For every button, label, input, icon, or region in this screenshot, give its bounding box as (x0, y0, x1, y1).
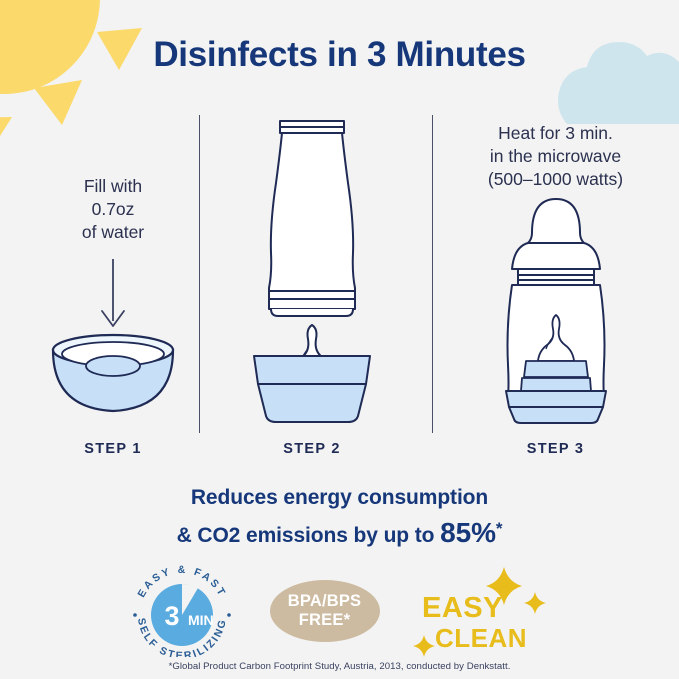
page-title: Disinfects in 3 Minutes (0, 35, 679, 75)
energy-claim-prefix: & CO2 emissions by up to (177, 524, 441, 547)
step-3-caption-line-2: in the microwave (432, 145, 679, 168)
footnote: *Global Product Carbon Footprint Study, … (0, 661, 679, 672)
step-1-caption-line-3: of water (0, 221, 226, 244)
badge-easy-line-1: EASY (422, 592, 503, 624)
step-1: Fill with 0.7oz of water (0, 112, 226, 457)
energy-claim-asterisk: * (496, 519, 503, 538)
step-1-caption: Fill with 0.7oz of water (0, 112, 226, 244)
badge-bpa-line-2: FREE* (299, 611, 350, 630)
badge-easy-clean: EASY CLEAN (408, 565, 558, 657)
steps-container: Fill with 0.7oz of water (0, 112, 679, 457)
badge-bpa-free: BPA/BPS FREE* (270, 580, 380, 642)
badge-easy-line-2: CLEAN (435, 623, 527, 653)
step-1-label: STEP 1 (0, 441, 226, 457)
badge-bpa-line-1: BPA/BPS (288, 592, 362, 611)
badge-self-sterilizing: EASY & FAST SELF STERILIZING 3 MIN (122, 565, 242, 657)
badge-center-number: 3 (164, 601, 179, 631)
energy-claim-line-1: Reduces energy consumption (0, 483, 679, 513)
bowl-with-water-icon (0, 330, 226, 416)
energy-claim: Reduces energy consumption & CO2 emissio… (0, 483, 679, 554)
step-2-label: STEP 2 (199, 441, 425, 457)
badges-row: EASY & FAST SELF STERILIZING 3 MIN BPA/B… (0, 565, 679, 657)
step-3-label: STEP 3 (432, 441, 679, 457)
down-arrow-icon (0, 259, 226, 336)
energy-claim-value: 85% (440, 517, 496, 548)
step-1-caption-line-2: 0.7oz (0, 198, 226, 221)
badge-center-unit: MIN (188, 612, 214, 628)
step-3-caption-line-1: Heat for 3 min. (432, 122, 679, 145)
assembled-bottle-icon (432, 185, 679, 425)
bottle-base-icon (199, 350, 425, 430)
infographic-root: Disinfects in 3 Minutes Fill with 0.7oz … (0, 0, 679, 679)
step-2: STEP 2 (199, 112, 425, 457)
step-1-caption-line-1: Fill with (0, 175, 226, 198)
step-3-caption: Heat for 3 min. in the microwave (500–10… (432, 112, 679, 191)
energy-claim-line-2: & CO2 emissions by up to 85%* (0, 513, 679, 554)
step-3: Heat for 3 min. in the microwave (500–10… (432, 112, 679, 457)
